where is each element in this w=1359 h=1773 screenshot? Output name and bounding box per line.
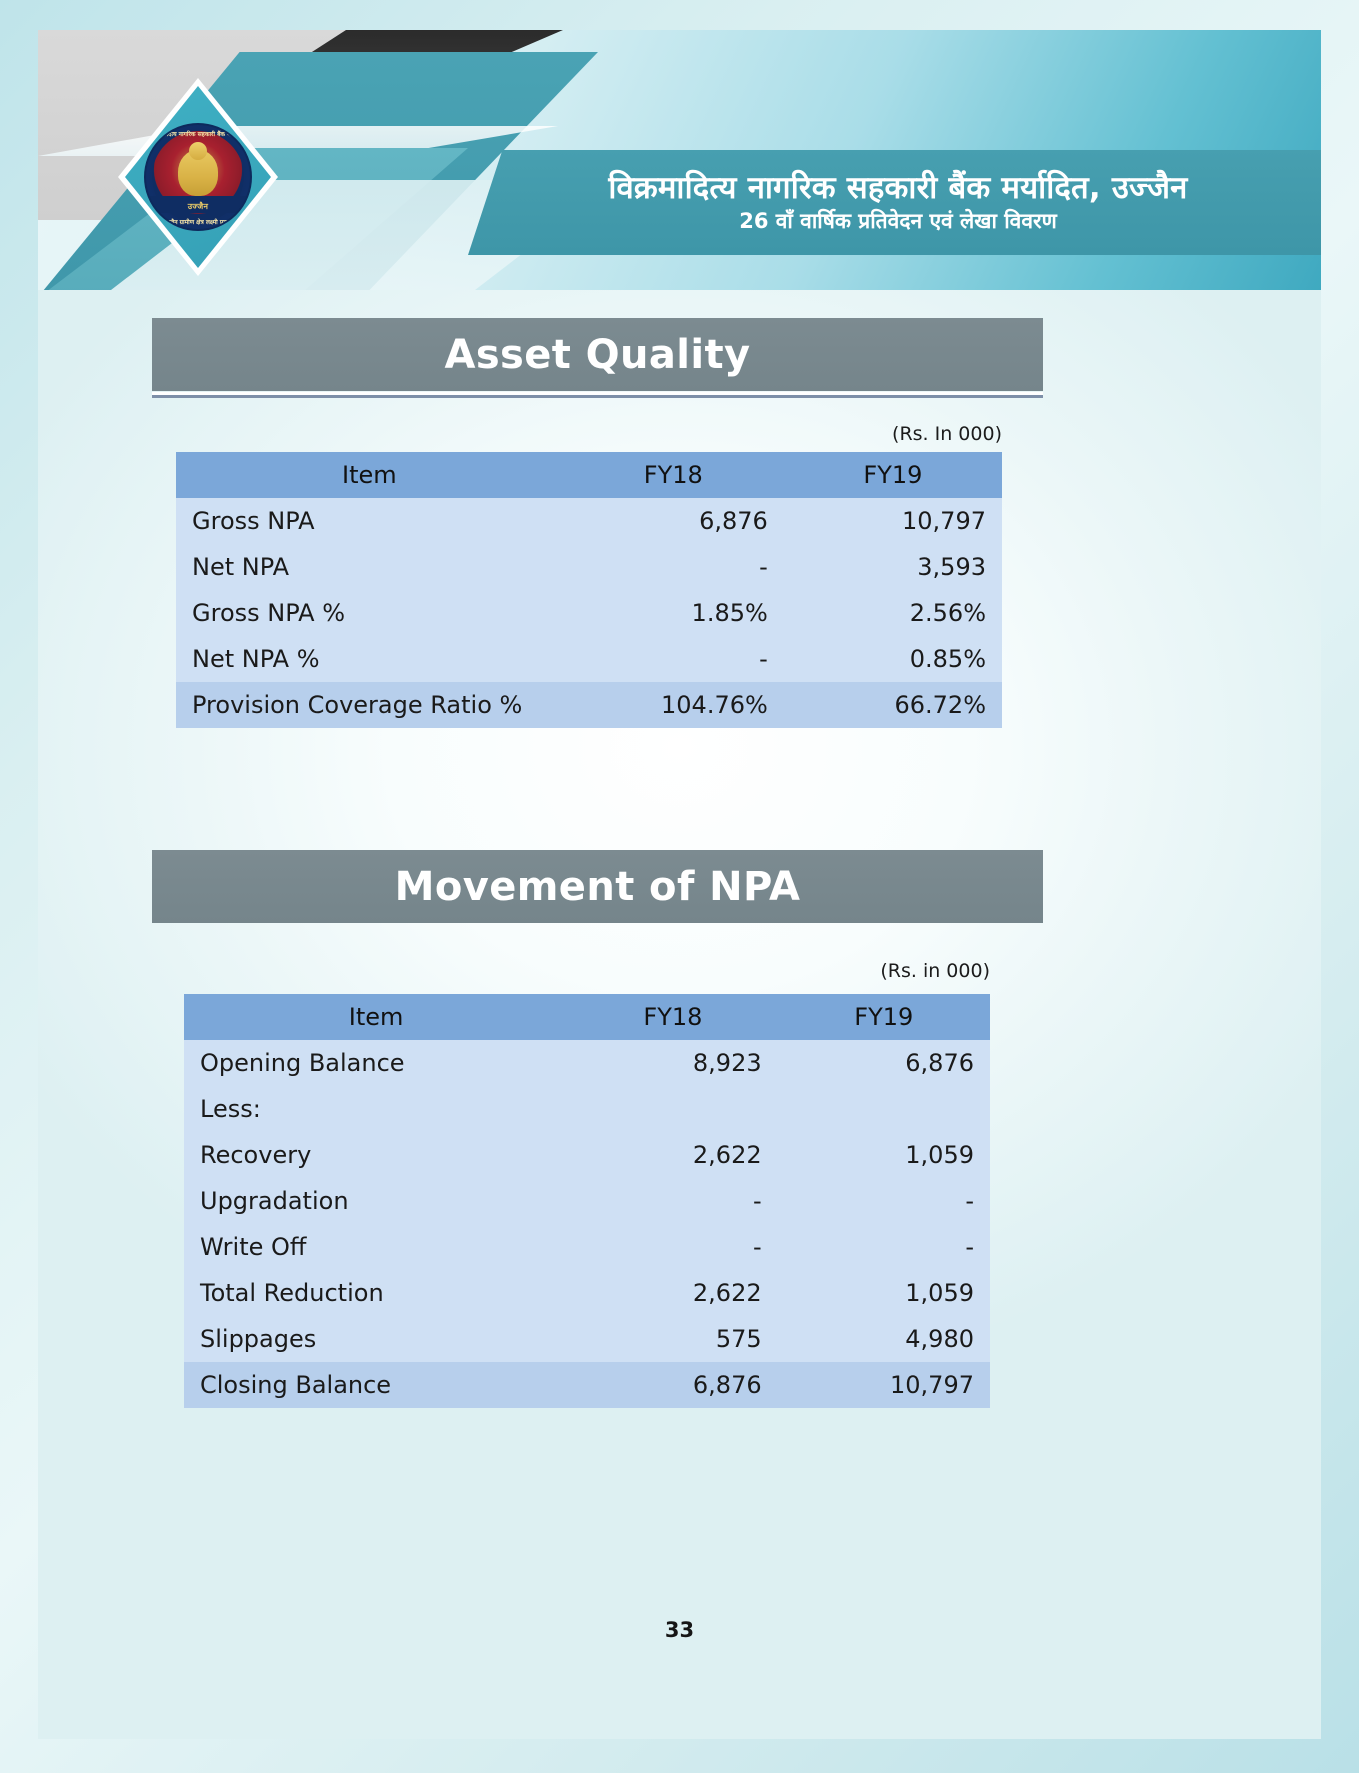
section-title-asset-quality: Asset Quality <box>444 332 750 378</box>
table-row: Net NPA - 3,593 <box>176 544 1002 590</box>
section-rule-asset-quality <box>152 392 1043 398</box>
cell-fy19: 3,593 <box>784 544 1002 590</box>
page-number: 33 <box>0 1618 1359 1642</box>
cell-fy19 <box>778 1086 990 1132</box>
table-row: Recovery 2,622 1,059 <box>184 1132 990 1178</box>
cell-item: Slippages <box>184 1316 568 1362</box>
cell-fy18: 575 <box>568 1316 777 1362</box>
cell-item: Gross NPA <box>176 498 563 544</box>
cell-item: Net NPA <box>176 544 563 590</box>
cell-item: Upgradation <box>184 1178 568 1224</box>
table-row: Opening Balance 8,923 6,876 <box>184 1040 990 1086</box>
cell-fy19: - <box>778 1178 990 1224</box>
cell-fy19: 10,797 <box>778 1362 990 1408</box>
column-header-fy19: FY19 <box>778 994 990 1040</box>
table-header-row: Item FY18 FY19 <box>184 994 990 1040</box>
cell-item: Total Reduction <box>184 1270 568 1316</box>
table-row-total: Provision Coverage Ratio % 104.76% 66.72… <box>176 682 1002 728</box>
table-row: Write Off - - <box>184 1224 990 1270</box>
cell-fy18: - <box>568 1224 777 1270</box>
cell-fy18: - <box>563 544 784 590</box>
cell-fy19: 1,059 <box>778 1270 990 1316</box>
cell-item: Net NPA % <box>176 636 563 682</box>
column-header-item: Item <box>176 452 563 498</box>
cell-item: Opening Balance <box>184 1040 568 1086</box>
cell-fy18: 104.76% <box>563 682 784 728</box>
table-row: Gross NPA 6,876 10,797 <box>176 498 1002 544</box>
cell-fy18: 6,876 <box>563 498 784 544</box>
cell-item: Gross NPA % <box>176 590 563 636</box>
cell-item: Less: <box>184 1086 568 1132</box>
cell-fy19: 66.72% <box>784 682 1002 728</box>
table-movement-of-npa: Item FY18 FY19 Opening Balance 8,923 6,8… <box>184 994 990 1408</box>
cell-fy18: - <box>568 1178 777 1224</box>
cell-item: Provision Coverage Ratio % <box>176 682 563 728</box>
cell-fy18: 1.85% <box>563 590 784 636</box>
cell-fy18: 2,622 <box>568 1132 777 1178</box>
cell-fy19: 2.56% <box>784 590 1002 636</box>
section-header-asset-quality: Asset Quality <box>152 318 1043 391</box>
cell-item: Write Off <box>184 1224 568 1270</box>
section-header-movement-of-npa: Movement of NPA <box>152 850 1043 923</box>
cell-item: Recovery <box>184 1132 568 1178</box>
cell-fy18: 8,923 <box>568 1040 777 1086</box>
column-header-fy19: FY19 <box>784 452 1002 498</box>
unit-note-movement-of-npa: (Rs. in 000) <box>0 960 990 982</box>
cell-fy19: 10,797 <box>784 498 1002 544</box>
cell-fy19: 0.85% <box>784 636 1002 682</box>
table-row: Total Reduction 2,622 1,059 <box>184 1270 990 1316</box>
cell-fy18 <box>568 1086 777 1132</box>
cell-item: Closing Balance <box>184 1362 568 1408</box>
cell-fy18: 6,876 <box>568 1362 777 1408</box>
table-asset-quality: Item FY18 FY19 Gross NPA 6,876 10,797 Ne… <box>176 452 1002 728</box>
table-row: Less: <box>184 1086 990 1132</box>
table-header-row: Item FY18 FY19 <box>176 452 1002 498</box>
cell-fy19: 1,059 <box>778 1132 990 1178</box>
unit-note-asset-quality: (Rs. In 000) <box>0 423 1002 445</box>
table-row: Gross NPA % 1.85% 2.56% <box>176 590 1002 636</box>
table-row: Net NPA % - 0.85% <box>176 636 1002 682</box>
table-row-total: Closing Balance 6,876 10,797 <box>184 1362 990 1408</box>
cell-fy19: 6,876 <box>778 1040 990 1086</box>
cell-fy19: - <box>778 1224 990 1270</box>
page-body: Asset Quality (Rs. In 000) Item FY18 FY1… <box>0 0 1359 1773</box>
table-row: Upgradation - - <box>184 1178 990 1224</box>
table-row: Slippages 575 4,980 <box>184 1316 990 1362</box>
cell-fy19: 4,980 <box>778 1316 990 1362</box>
document-page: विक्रमादित्य नागरिक सहकारी बैंक मर्यादित… <box>0 0 1359 1773</box>
column-header-fy18: FY18 <box>568 994 777 1040</box>
cell-fy18: 2,622 <box>568 1270 777 1316</box>
column-header-fy18: FY18 <box>563 452 784 498</box>
section-title-movement-of-npa: Movement of NPA <box>395 864 801 910</box>
cell-fy18: - <box>563 636 784 682</box>
column-header-item: Item <box>184 994 568 1040</box>
